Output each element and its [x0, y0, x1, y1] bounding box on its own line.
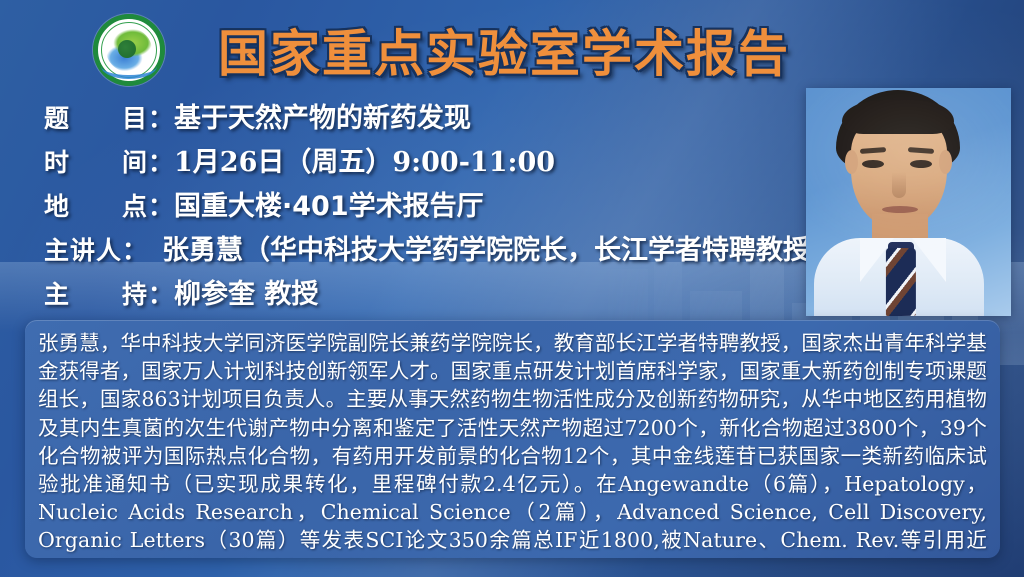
info-row-time: 时 间： 1月26日（周五）9:00-11:00: [44, 140, 824, 184]
info-row-speaker: 主讲人： 张勇慧（华中科技大学药学院院长，长江学者特聘教授）: [44, 228, 824, 272]
info-value-location: 国重大楼·401学术报告厅: [174, 184, 484, 223]
info-label-location: 地 点：: [44, 187, 174, 223]
info-label-host: 主 持：: [44, 275, 174, 311]
poster-header: 国家重点实验室学术报告: [0, 0, 1024, 92]
lecture-poster: 国家重点实验室学术报告 题 目： 基于天然产物的新药发现 时 间： 1月26日（…: [0, 0, 1024, 577]
info-value-topic: 基于天然产物的新药发现: [174, 96, 471, 135]
poster-title: 国家重点实验室学术报告: [218, 14, 790, 86]
info-value-speaker: 张勇慧（华中科技大学药学院院长，长江学者特聘教授）: [162, 228, 837, 267]
state-key-laboratory-logo-icon: [93, 14, 165, 86]
info-row-location: 地 点： 国重大楼·401学术报告厅: [44, 184, 824, 228]
speaker-bio-text: 张勇慧，华中科技大学同济医学院副院长兼药学院院长，教育部长江学者特聘教授，国家杰…: [38, 329, 987, 558]
info-value-host: 柳参奎 教授: [174, 272, 318, 311]
info-label-time: 时 间：: [44, 143, 174, 179]
info-label-topic: 题 目：: [44, 99, 174, 135]
speaker-bio-box: 张勇慧，华中科技大学同济医学院副院长兼药学院院长，教育部长江学者特聘教授，国家杰…: [25, 320, 1000, 558]
info-value-time: 1月26日（周五）9:00-11:00: [174, 140, 555, 179]
event-info-list: 题 目： 基于天然产物的新药发现 时 间： 1月26日（周五）9:00-11:0…: [44, 96, 824, 316]
info-label-speaker: 主讲人：: [44, 231, 162, 267]
info-row-topic: 题 目： 基于天然产物的新药发现: [44, 96, 824, 140]
speaker-portrait: [806, 88, 1011, 316]
info-row-host: 主 持： 柳参奎 教授: [44, 272, 824, 316]
